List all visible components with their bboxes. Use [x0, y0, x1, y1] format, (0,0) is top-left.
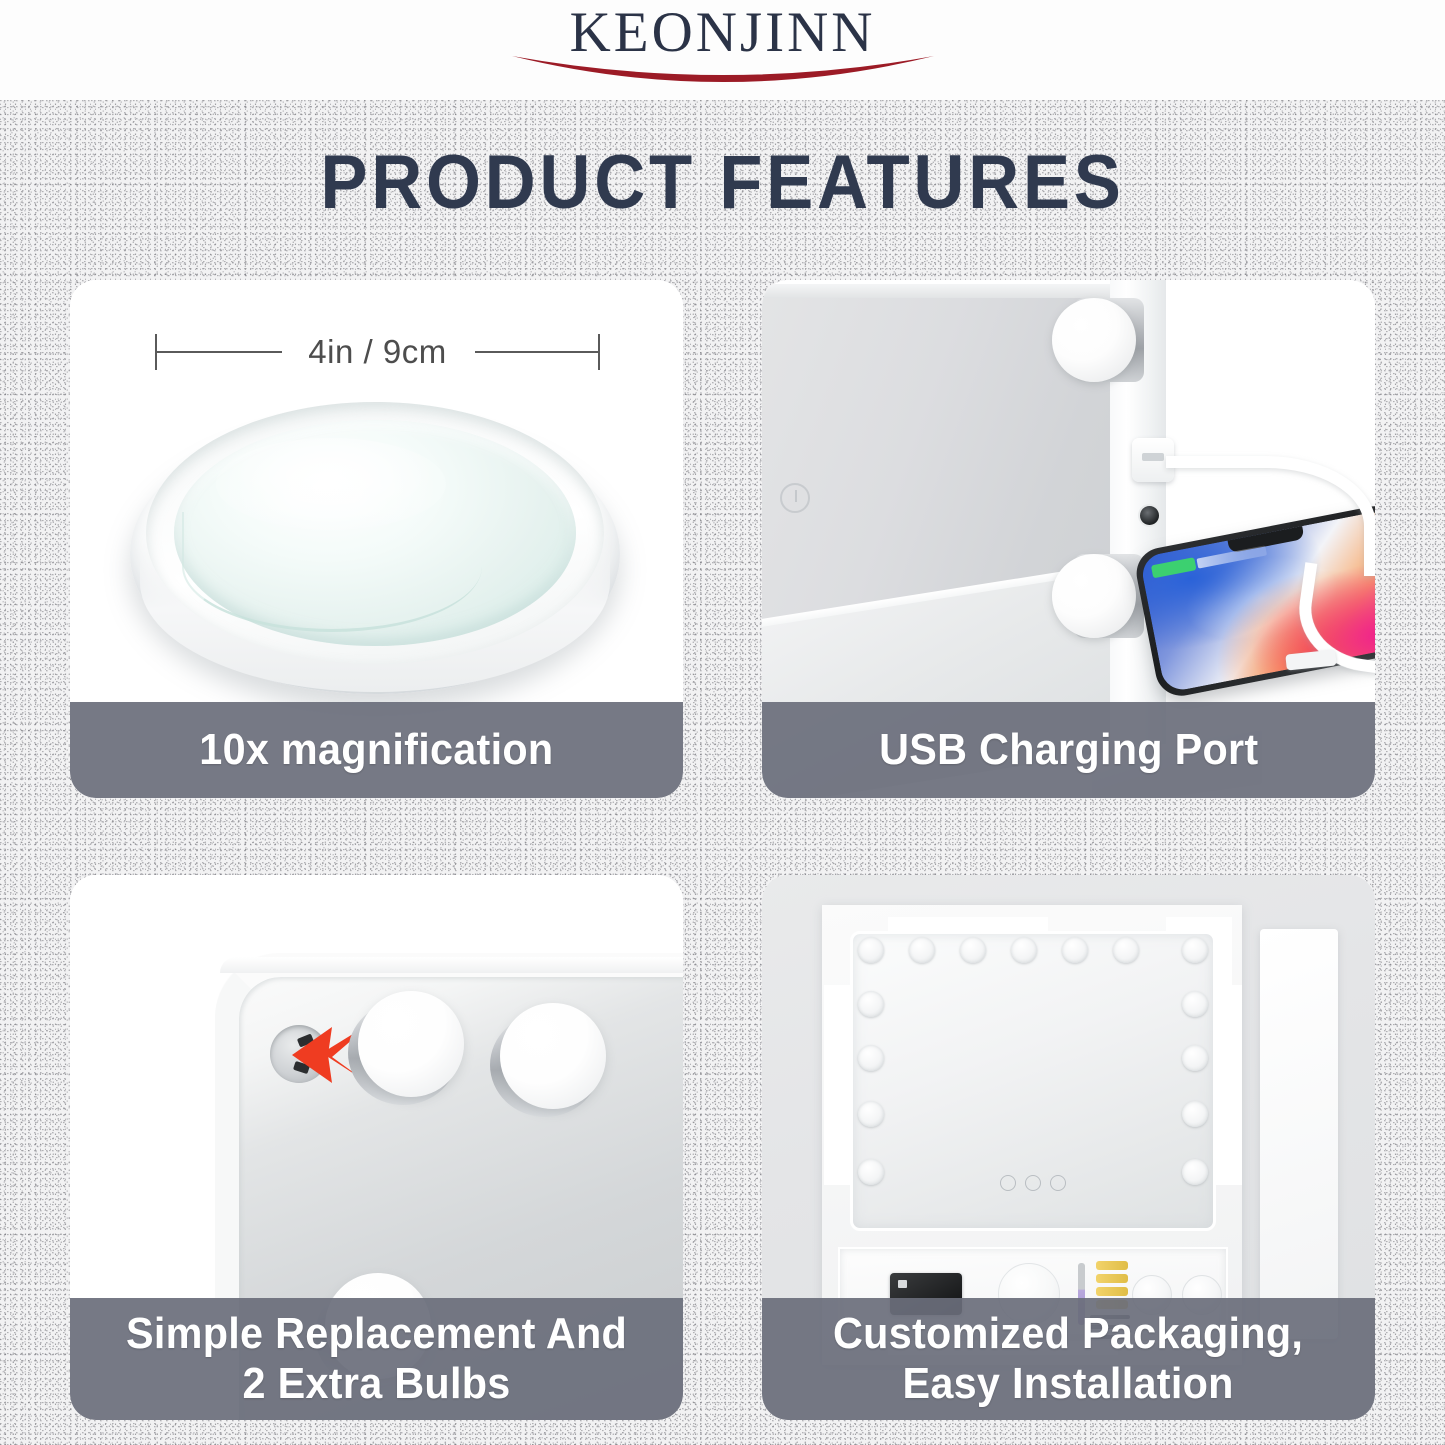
dimension-rule-right — [475, 351, 598, 353]
feature-card-magnification: 4in / 9cm 10x magnification — [70, 280, 683, 798]
brand-swoosh-icon — [508, 52, 938, 96]
bulb-icon — [858, 991, 884, 1017]
control-dot — [1050, 1175, 1066, 1191]
feature-card-bulb-replacement: Simple Replacement And 2 Extra Bulbs — [70, 875, 683, 1420]
brand-header: KEONJINN — [0, 0, 1445, 100]
feature-card-packaging: Customized Packaging, Easy Installation — [762, 875, 1375, 1420]
bulb-dome — [1052, 298, 1136, 382]
led-bulb-icon — [348, 991, 466, 1109]
caption-text: Customized Packaging, Easy Installation — [833, 1309, 1303, 1409]
product-features-page: KEONJINN PRODUCT FEATURES 4in / 9cm — [0, 0, 1445, 1445]
wall-anchor — [1096, 1261, 1128, 1270]
caption-line-1: Simple Replacement And — [126, 1309, 627, 1359]
dimension-end-cap-right — [598, 334, 600, 370]
card-caption-bar-magnification: 10x magnification — [70, 702, 683, 798]
bulb-icon — [858, 1045, 884, 1071]
control-dot — [1000, 1175, 1016, 1191]
bulb-icon — [858, 937, 884, 963]
led-bulb-icon — [1052, 550, 1144, 642]
magnifier-lens-glint — [216, 438, 446, 530]
bulb-dome — [1052, 554, 1136, 638]
brand-logo: KEONJINN — [0, 0, 1445, 100]
bulb-icon — [909, 937, 935, 963]
caption-text: 10x magnification — [199, 725, 553, 775]
caption-text: USB Charging Port — [879, 725, 1258, 775]
side-foam-pack — [1260, 929, 1338, 1339]
bulb-icon — [1182, 1159, 1208, 1185]
bulb-icon — [858, 1101, 884, 1127]
caption-line-2: 2 Extra Bulbs — [126, 1359, 627, 1409]
bulb-icon — [960, 937, 986, 963]
bulb-icon — [1062, 937, 1088, 963]
card-caption-bar-replacement: Simple Replacement And 2 Extra Bulbs — [70, 1298, 683, 1420]
power-touch-icon — [780, 483, 810, 513]
bulb-dome — [358, 991, 464, 1097]
bulb-icon — [1113, 937, 1139, 963]
bulb-icon — [1182, 1101, 1208, 1127]
dimension-line: 4in / 9cm — [155, 328, 600, 376]
control-dot — [1025, 1175, 1041, 1191]
magnifier-mirror-illustration — [130, 392, 620, 722]
led-bulb-icon — [1052, 294, 1144, 386]
bulb-dome — [500, 1003, 606, 1109]
power-jack-icon — [1140, 506, 1159, 525]
mirror-frame-highlight — [220, 957, 683, 973]
caption-line-2: Easy Installation — [833, 1359, 1303, 1409]
wall-anchor — [1096, 1287, 1128, 1296]
caption-text: Simple Replacement And 2 Extra Bulbs — [126, 1309, 627, 1409]
card-caption-bar-usb: USB Charging Port — [762, 702, 1375, 798]
mirror-touch-controls — [1000, 1175, 1066, 1191]
wall-anchor — [1096, 1274, 1128, 1283]
card-caption-bar-packaging: Customized Packaging, Easy Installation — [762, 1298, 1375, 1420]
led-bulb-icon — [490, 1003, 608, 1121]
feature-card-usb-charging-port: USB Charging Port — [762, 280, 1375, 798]
bulb-icon — [1182, 991, 1208, 1017]
bulb-icon — [858, 1159, 884, 1185]
page-title: PRODUCT FEATURES — [51, 145, 1395, 221]
caption-line-1: Customized Packaging, — [833, 1309, 1303, 1359]
bulb-icon — [1182, 937, 1208, 963]
bulb-icon — [1011, 937, 1037, 963]
bulb-icon — [1182, 1045, 1208, 1071]
